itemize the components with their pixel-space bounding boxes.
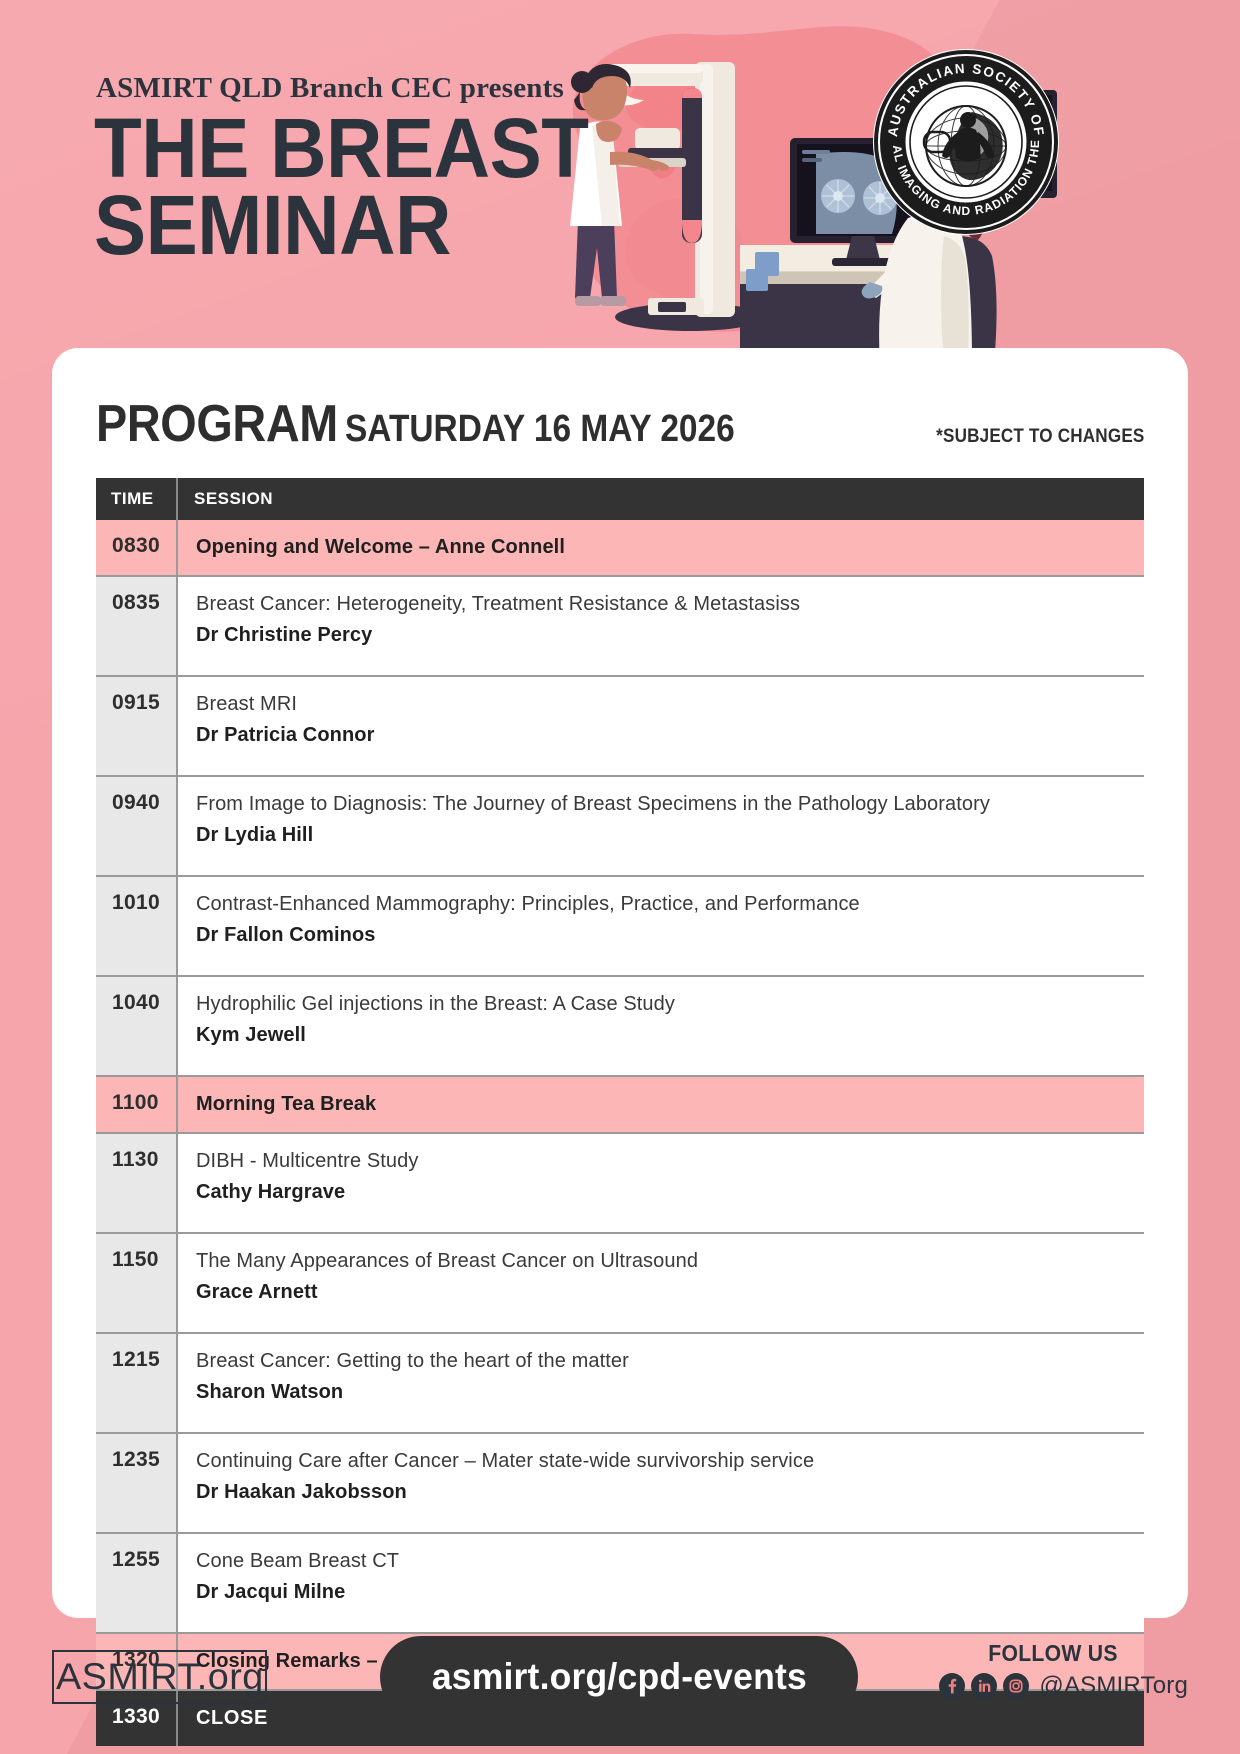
session-title: Hydrophilic Gel injections in the Breast… bbox=[196, 991, 1144, 1018]
session-title: Morning Tea Break bbox=[196, 1091, 1144, 1118]
asmirt-logo: AUSTRALIAN SOCIETY OF MEDICAL IMAGING AN… bbox=[872, 48, 1060, 236]
cell-session: Hydrophilic Gel injections in the Breast… bbox=[177, 976, 1144, 1076]
session-speaker: Dr Haakan Jakobsson bbox=[196, 1478, 1144, 1506]
session-title: The Many Appearances of Breast Cancer on… bbox=[196, 1248, 1144, 1275]
facebook-icon[interactable] bbox=[939, 1673, 965, 1699]
instagram-icon[interactable] bbox=[1003, 1673, 1029, 1699]
session-title: DIBH - Multicentre Study bbox=[196, 1148, 1144, 1175]
session-title: Breast MRI bbox=[196, 691, 1144, 718]
table-row: 1235Continuing Care after Cancer – Mater… bbox=[96, 1433, 1144, 1533]
cell-time: 1235 bbox=[96, 1433, 177, 1533]
session-speaker: Kym Jewell bbox=[196, 1021, 1144, 1049]
table-row: 1040Hydrophilic Gel injections in the Br… bbox=[96, 976, 1144, 1076]
cell-time: 1100 bbox=[96, 1076, 177, 1133]
session-speaker: Dr Patricia Connor bbox=[196, 721, 1144, 749]
cta-label: asmirt.org/cpd-events bbox=[431, 1656, 806, 1698]
table-row: 0940From Image to Diagnosis: The Journey… bbox=[96, 776, 1144, 876]
session-speaker: Cathy Hargrave bbox=[196, 1178, 1144, 1206]
cell-session: Breast Cancer: Getting to the heart of t… bbox=[177, 1333, 1144, 1433]
session-title: Breast Cancer: Getting to the heart of t… bbox=[196, 1348, 1144, 1375]
table-row: 1215Breast Cancer: Getting to the heart … bbox=[96, 1333, 1144, 1433]
session-speaker: Dr Lydia Hill bbox=[196, 821, 1144, 849]
table-row: 0915Breast MRIDr Patricia Connor bbox=[96, 676, 1144, 776]
cell-time: 1010 bbox=[96, 876, 177, 976]
cell-session: Morning Tea Break bbox=[177, 1076, 1144, 1133]
session-speaker: Sharon Watson bbox=[196, 1378, 1144, 1406]
table-header-row: TIME SESSION bbox=[96, 478, 1144, 520]
program-table: TIME SESSION 0830Opening and Welcome – A… bbox=[96, 478, 1144, 1746]
program-date: SATURDAY 16 MAY 2026 bbox=[345, 408, 735, 451]
table-row: 1100Morning Tea Break bbox=[96, 1076, 1144, 1133]
program-header: PROGRAMSATURDAY 16 MAY 2026 *SUBJECT TO … bbox=[96, 394, 1144, 454]
cell-time: 0915 bbox=[96, 676, 177, 776]
cell-time: 1215 bbox=[96, 1333, 177, 1433]
session-title: Opening and Welcome – Anne Connell bbox=[196, 534, 1144, 561]
column-header-time: TIME bbox=[96, 478, 177, 520]
session-speaker: Grace Arnett bbox=[196, 1278, 1144, 1306]
cell-session: Breast Cancer: Heterogeneity, Treatment … bbox=[177, 576, 1144, 676]
cell-session: Continuing Care after Cancer – Mater sta… bbox=[177, 1433, 1144, 1533]
social-handle: @ASMIRTorg bbox=[1039, 1672, 1188, 1700]
cell-session: From Image to Diagnosis: The Journey of … bbox=[177, 776, 1144, 876]
follow-us-label: FOLLOW US bbox=[929, 1640, 1177, 1667]
cell-time: 1040 bbox=[96, 976, 177, 1076]
cell-time: 0830 bbox=[96, 520, 177, 576]
cell-time: 0940 bbox=[96, 776, 177, 876]
asmirt-brand-box[interactable]: ASMIRT.org bbox=[52, 1650, 267, 1704]
table-row: 1010Contrast-Enhanced Mammography: Princ… bbox=[96, 876, 1144, 976]
cell-session: Contrast-Enhanced Mammography: Principle… bbox=[177, 876, 1144, 976]
linkedin-icon[interactable] bbox=[971, 1673, 997, 1699]
table-row: 0835Breast Cancer: Heterogeneity, Treatm… bbox=[96, 576, 1144, 676]
session-title: Breast Cancer: Heterogeneity, Treatment … bbox=[196, 591, 1144, 618]
cell-time: 1150 bbox=[96, 1233, 177, 1333]
program-card: PROGRAMSATURDAY 16 MAY 2026 *SUBJECT TO … bbox=[52, 348, 1188, 1618]
program-heading: PROGRAM bbox=[96, 394, 338, 454]
table-row: 1130DIBH - Multicentre StudyCathy Hargra… bbox=[96, 1133, 1144, 1233]
cell-time: 0835 bbox=[96, 576, 177, 676]
session-speaker: Dr Christine Percy bbox=[196, 621, 1144, 649]
program-disclaimer: *SUBJECT TO CHANGES bbox=[936, 426, 1144, 448]
follow-us-block: FOLLOW US @ASMIRTorg bbox=[918, 1640, 1188, 1700]
cell-session: Opening and Welcome – Anne Connell bbox=[177, 520, 1144, 576]
asmirt-brand-label: ASMIRT.org bbox=[56, 1656, 264, 1698]
cta-button[interactable]: asmirt.org/cpd-events bbox=[380, 1636, 858, 1718]
table-row: 0830Opening and Welcome – Anne Connell bbox=[96, 520, 1144, 576]
session-speaker: Dr Fallon Cominos bbox=[196, 921, 1144, 949]
table-row: 1150The Many Appearances of Breast Cance… bbox=[96, 1233, 1144, 1333]
session-title: Contrast-Enhanced Mammography: Principle… bbox=[196, 891, 1144, 918]
cell-time: 1130 bbox=[96, 1133, 177, 1233]
poster-footer: ASMIRT.org asmirt.org/cpd-events FOLLOW … bbox=[0, 1618, 1240, 1754]
table-body: 0830Opening and Welcome – Anne Connell08… bbox=[96, 520, 1144, 1746]
session-title: Continuing Care after Cancer – Mater sta… bbox=[196, 1448, 1144, 1475]
cell-session: DIBH - Multicentre StudyCathy Hargrave bbox=[177, 1133, 1144, 1233]
column-header-session: SESSION bbox=[177, 478, 1144, 520]
poster-header: ASMIRT QLD Branch CEC presents THE BREAS… bbox=[0, 0, 1240, 365]
page-title: THE BREAST SEMINAR bbox=[94, 110, 588, 265]
social-links-row: @ASMIRTorg bbox=[918, 1672, 1188, 1700]
session-title: Cone Beam Breast CT bbox=[196, 1548, 1144, 1575]
session-title: From Image to Diagnosis: The Journey of … bbox=[196, 791, 1144, 818]
cell-session: Breast MRIDr Patricia Connor bbox=[177, 676, 1144, 776]
session-speaker: Dr Jacqui Milne bbox=[196, 1578, 1144, 1606]
cell-session: The Many Appearances of Breast Cancer on… bbox=[177, 1233, 1144, 1333]
